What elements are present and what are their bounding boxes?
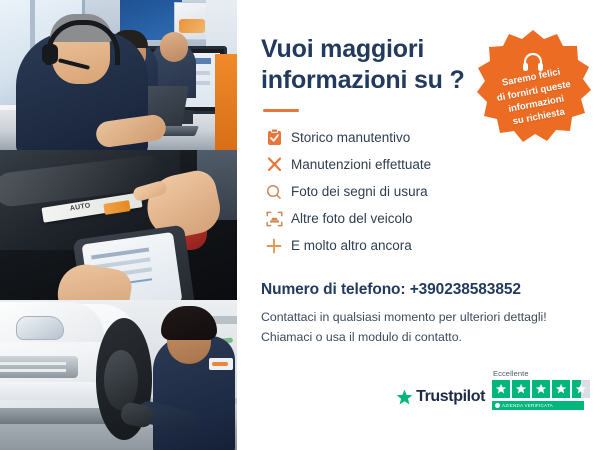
list-item[interactable]: Foto dei segni di usura [261,178,578,205]
trustpilot-star-icon [396,389,413,406]
list-item-label: Storico manutentivo [291,130,410,145]
trustpilot-rating-label: Eccellente [493,369,529,378]
plus-icon [261,238,287,254]
contact-line-1: Contattaci in qualsiasi momento per ulte… [261,308,578,328]
list-item-label: Manutenzioni effettuate [291,157,431,172]
trustpilot-logo: Trustpilot [396,388,485,410]
verified-label: AZIENDA VERIFICATA [502,403,553,408]
headset-icon [522,52,544,72]
call-center-agent-headset-photo [0,0,237,150]
mechanic-uniform-logo [209,358,233,370]
wrench-tools-icon [261,156,287,173]
magnifier-icon [261,184,287,200]
star-rating [492,380,590,398]
agent-headset-earcup [42,44,58,64]
car-bumper [0,382,102,400]
trustpilot-widget[interactable]: Trustpilot Eccellente [396,369,590,410]
scan-car-icon [261,211,287,227]
list-item-label: E molto altro ancora [291,238,412,253]
phone-number[interactable]: Numero di telefono: +390238583852 [261,281,578,299]
clipboard-check-icon [261,129,287,146]
star-filled-icon [512,380,530,398]
content-panel: Saremo felici di fornirti queste informa… [237,0,600,450]
page-title: Vuoi maggiori informazioni su ? [261,34,471,95]
car-headlight [16,316,64,340]
promo-card: Saremo felici di fornirti queste informa… [0,0,600,450]
orange-equipment-edge [215,54,237,150]
tablet-vehicle-inspection-photo [0,150,237,300]
car-grille [0,356,78,378]
check-icon [495,403,500,408]
starburst-shape-icon [474,28,592,146]
contact-line-2: Chiamaci o usa il modulo di contatto. [261,328,578,348]
star-half-icon [572,380,590,398]
car-wheel-rim [104,350,138,410]
mechanic-wheel-service-photo [0,300,237,450]
list-item[interactable]: Manutenzioni effettuate [261,151,578,178]
list-item[interactable]: Altre foto del veicolo [261,205,578,232]
photo-column [0,0,237,450]
star-filled-icon [532,380,550,398]
verified-company-badge: AZIENDA VERIFICATA [492,401,584,410]
list-item-label: Altre foto del veicolo [291,211,413,226]
list-item-label: Foto dei segni di usura [291,184,428,199]
callout-badge: Saremo felici di fornirti queste informa… [474,28,592,146]
trustpilot-name: Trustpilot [416,388,485,406]
trustpilot-rating: Eccellente [492,369,590,410]
star-filled-icon [492,380,510,398]
star-filled-icon [552,380,570,398]
background-colleague-two-head [160,32,188,62]
title-divider [263,109,299,112]
list-item[interactable]: E molto altro ancora [261,232,578,259]
